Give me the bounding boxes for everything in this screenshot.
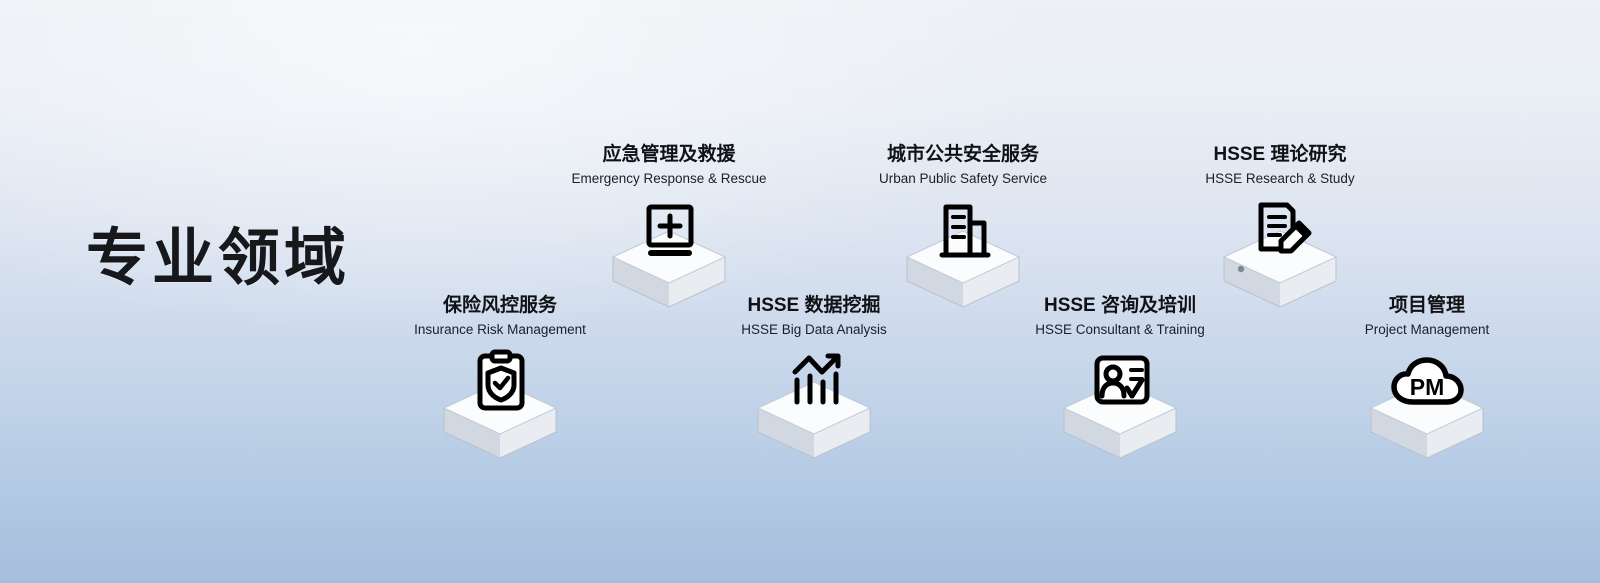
- domain-subtitle: Insurance Risk Management: [370, 321, 630, 339]
- domain-title: HSSE 咨询及培训: [990, 294, 1250, 318]
- cloud-pm-label: PM: [1410, 374, 1445, 400]
- domain-item-emergency-response[interactable]: 应急管理及救援 Emergency Response & Rescue: [539, 143, 799, 310]
- domain-title: 项目管理: [1297, 294, 1557, 318]
- page-title: 专业领域: [86, 228, 350, 290]
- domain-title: 保险风控服务: [370, 294, 630, 318]
- domain-item-insurance-risk[interactable]: 保险风控服务 Insurance Risk Management: [370, 294, 630, 461]
- domain-subtitle: HSSE Consultant & Training: [990, 321, 1250, 339]
- domain-item-hsse-research[interactable]: HSSE 理论研究 HSSE Research & Study: [1150, 143, 1410, 310]
- domain-subtitle: Urban Public Safety Service: [833, 170, 1093, 188]
- domain-title: HSSE 理论研究: [1150, 143, 1410, 167]
- professional-domains-banner: 专业领域 应急管理及救援 Emergency Response & Rescue: [0, 0, 1600, 583]
- bar-chart-trend-up-icon: [739, 346, 889, 461]
- person-id-card-check-icon: [1045, 346, 1195, 461]
- clipboard-shield-check-icon: [425, 346, 575, 461]
- domain-subtitle: Emergency Response & Rescue: [539, 170, 799, 188]
- domain-title: 城市公共安全服务: [833, 143, 1093, 167]
- domain-subtitle: HSSE Research & Study: [1150, 170, 1410, 188]
- domain-subtitle: Project Management: [1297, 321, 1557, 339]
- domain-item-project-management[interactable]: 项目管理 Project Management PM: [1297, 294, 1557, 461]
- domain-subtitle: HSSE Big Data Analysis: [684, 321, 944, 339]
- domain-title: 应急管理及救援: [539, 143, 799, 167]
- domain-item-urban-public-safety[interactable]: 城市公共安全服务 Urban Public Safety Service: [833, 143, 1093, 310]
- domain-item-hsse-big-data[interactable]: HSSE 数据挖掘 HSSE Big Data Analysis: [684, 294, 944, 461]
- domain-item-hsse-consultant[interactable]: HSSE 咨询及培训 HSSE Consultant & Training: [990, 294, 1250, 461]
- domain-title: HSSE 数据挖掘: [684, 294, 944, 318]
- cloud-pm-icon: PM: [1352, 346, 1502, 461]
